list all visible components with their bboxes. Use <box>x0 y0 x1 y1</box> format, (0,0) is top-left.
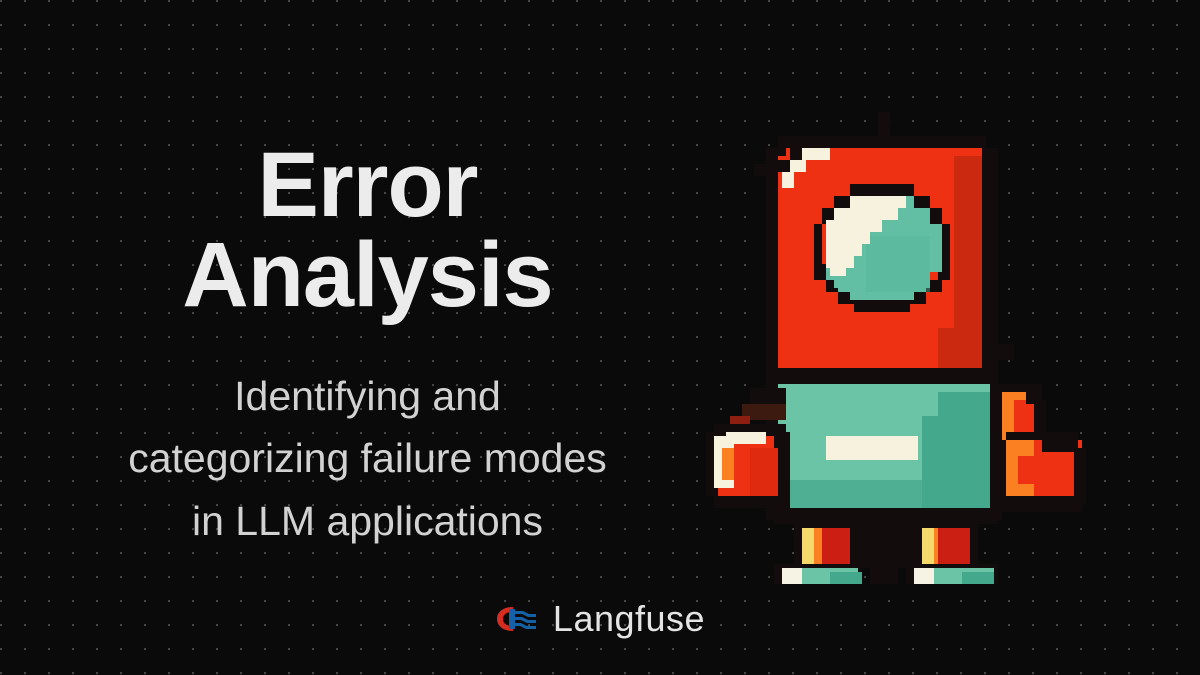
subtitle-line-3: in LLM applications <box>0 490 735 552</box>
subtitle-line-2: categorizing failure modes <box>0 427 735 489</box>
title-line-2: Analysis <box>0 230 735 320</box>
slide-canvas: Error Analysis Identifying and categoriz… <box>0 0 1200 675</box>
page-title: Error Analysis <box>0 140 735 320</box>
brand-name-label: Langfuse <box>553 601 705 637</box>
langfuse-logo-icon <box>495 603 539 635</box>
subtitle-line-1: Identifying and <box>0 365 735 427</box>
pixel-robot-illustration <box>690 95 1090 585</box>
pixel-robot-icon <box>690 95 1090 585</box>
text-column: Error Analysis Identifying and categoriz… <box>0 0 735 675</box>
brand-footer: Langfuse <box>0 601 1200 637</box>
page-subtitle: Identifying and categorizing failure mod… <box>0 365 735 552</box>
title-line-1: Error <box>0 140 735 230</box>
